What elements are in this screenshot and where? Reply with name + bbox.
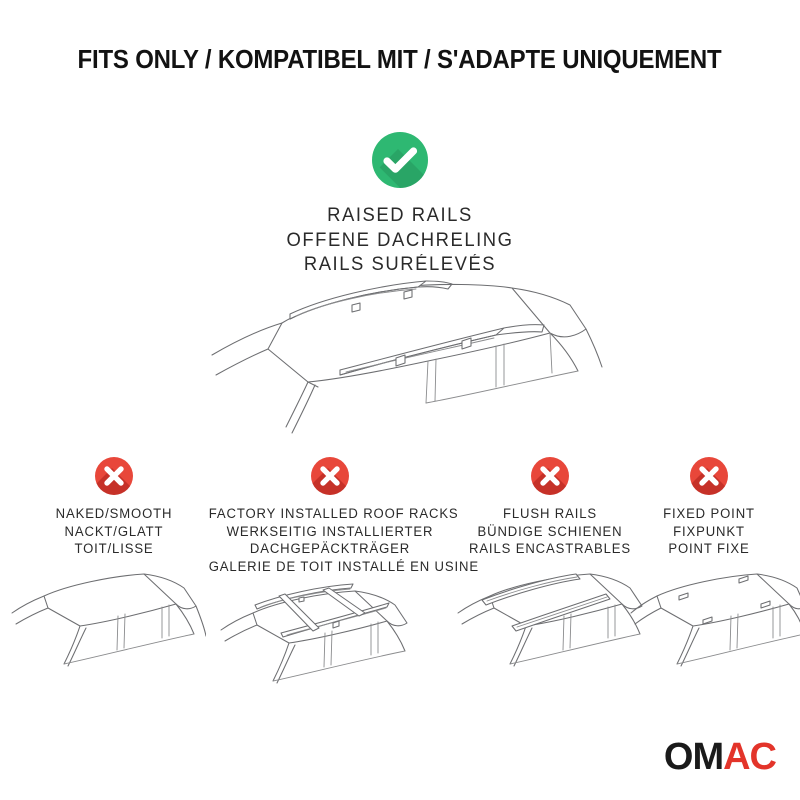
cross-circle-icon [531,457,569,495]
car-roof-flush-rails-illustration [454,566,648,686]
item-label-de: BÜNDIGE SCHIENEN [455,523,645,541]
approved-labels: RAISED RAILS OFFENE DACHRELING RAILS SUR… [0,204,800,278]
car-roof-raised-rails-illustration [190,275,610,450]
check-circle-icon [372,132,428,188]
approved-section: RAISED RAILS OFFENE DACHRELING RAILS SUR… [0,132,800,278]
car-roof-naked-illustration [6,566,214,686]
header: FITS ONLY / KOMPATIBEL MIT / S'ADAPTE UN… [0,46,800,75]
page-title: FITS ONLY / KOMPATIBEL MIT / S'ADAPTE UN… [78,46,722,75]
incompatible-item-flush-rails: FLUSH RAILS BÜNDIGE SCHIENEN RAILS ENCAS… [452,457,648,686]
item-label-de: NACKT/GLATT [17,523,211,541]
item-label-fr: GALERIE DE TOIT INSTALLÉ EN USINE [209,558,452,576]
item-labels: FIXED POINT FIXPUNKT POINT FIXE [625,505,793,558]
item-label-en: FIXED POINT [628,505,791,523]
incompatible-item-naked: NAKED/SMOOTH NACKT/GLATT TOIT/LISSE [14,457,214,686]
logo-part-red: AC [723,736,776,778]
item-label-fr: POINT FIXE [628,540,791,558]
cross-circle-icon [95,457,133,495]
item-labels: FACTORY INSTALLED ROOF RACKS WERKSEITIG … [205,505,455,575]
omac-logo: OMAC [664,738,776,776]
cross-circle-icon [311,457,349,495]
item-label-de: FIXPUNKT [628,523,791,541]
approved-label-en: RAISED RAILS [12,204,788,229]
incompatible-item-fixed-point: FIXED POINT FIXPUNKT POINT FIXE [625,457,793,686]
item-labels: FLUSH RAILS BÜNDIGE SCHIENEN RAILS ENCAS… [452,505,648,558]
item-label-fr: TOIT/LISSE [17,540,211,558]
cross-circle-icon [690,457,728,495]
incompatible-item-factory-racks: FACTORY INSTALLED ROOF RACKS WERKSEITIG … [205,457,455,703]
logo-part-dark: OM [664,736,723,778]
item-label-fr: RAILS ENCASTRABLES [455,540,645,558]
item-label-de-2: DACHGEPÄCKTRÄGER [209,540,452,558]
item-label-de: WERKSEITIG INSTALLIERTER [209,523,452,541]
car-roof-fixed-point-illustration [627,566,793,686]
item-label-en: FACTORY INSTALLED ROOF RACKS [209,505,452,523]
car-roof-factory-racks-illustration [211,583,455,703]
item-labels: NAKED/SMOOTH NACKT/GLATT TOIT/LISSE [14,505,214,558]
approved-label-de: OFFENE DACHRELING [12,229,788,254]
item-label-en: NAKED/SMOOTH [17,505,211,523]
item-label-en: FLUSH RAILS [455,505,645,523]
